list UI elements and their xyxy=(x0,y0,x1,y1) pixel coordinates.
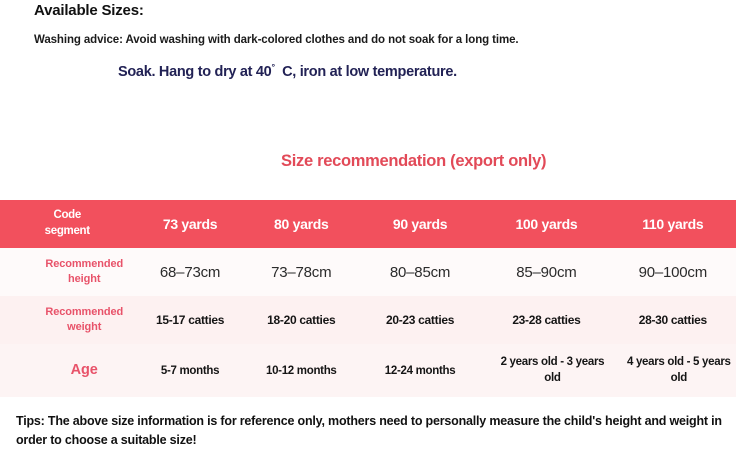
table-header-row: Code segment 73 yards 80 yards 90 yards … xyxy=(0,200,736,248)
degree-symbol: ° xyxy=(271,62,275,72)
cell-age-80: 10-12 months xyxy=(246,344,357,397)
size-chart-table: Code segment 73 yards 80 yards 90 yards … xyxy=(0,200,736,397)
row-label-line1: Recommended xyxy=(34,305,134,320)
code-segment-line2: segment xyxy=(0,224,134,240)
cell-height-73: 68–73cm xyxy=(134,248,245,296)
soak-advice-text: Soak. Hang to dry at 40°C, iron at low t… xyxy=(118,62,457,80)
soak-advice-part2: C, iron at low temperature. xyxy=(282,64,457,80)
cell-weight-80: 18-20 catties xyxy=(246,296,357,344)
cell-weight-90: 20-23 catties xyxy=(357,296,483,344)
tips-note: Tips: The above size information is for … xyxy=(16,412,732,451)
row-label-recommended-height: Recommended height xyxy=(0,248,134,296)
code-segment-line1: Code xyxy=(0,208,134,224)
column-header-90-yards: 90 yards xyxy=(357,200,483,248)
cell-weight-110: 28-30 catties xyxy=(610,296,736,344)
row-label-age: Age xyxy=(0,344,134,397)
row-label-line2: height xyxy=(34,272,134,287)
cell-height-90: 80–85cm xyxy=(357,248,483,296)
washing-advice-text: Washing advice: Avoid washing with dark-… xyxy=(34,34,518,46)
row-label-recommended-weight: Recommended weight xyxy=(0,296,134,344)
row-label-line1: Age xyxy=(34,360,134,380)
cell-height-100: 85–90cm xyxy=(483,248,609,296)
cell-age-90: 12-24 months xyxy=(357,344,483,397)
column-header-80-yards: 80 yards xyxy=(246,200,357,248)
column-header-code-segment: Code segment xyxy=(0,200,134,248)
table-row-recommended-height: Recommended height 68–73cm 73–78cm 80–85… xyxy=(0,248,736,296)
cell-weight-100: 23-28 catties xyxy=(483,296,609,344)
table-row-recommended-weight: Recommended weight 15-17 catties 18-20 c… xyxy=(0,296,736,344)
cell-age-110: 4 years old - 5 years old xyxy=(610,344,736,397)
cell-height-110: 90–100cm xyxy=(610,248,736,296)
table-row-age: Age 5-7 months 10-12 months 12-24 months… xyxy=(0,344,736,397)
cell-height-80: 73–78cm xyxy=(246,248,357,296)
column-header-73-yards: 73 yards xyxy=(134,200,245,248)
size-recommendation-title: Size recommendation (export only) xyxy=(281,152,546,171)
cell-age-100: 2 years old - 3 years old xyxy=(483,344,609,397)
cell-age-73: 5-7 months xyxy=(134,344,245,397)
row-label-line1: Recommended xyxy=(34,257,134,272)
column-header-110-yards: 110 yards xyxy=(610,200,736,248)
available-sizes-heading: Available Sizes: xyxy=(34,2,144,19)
soak-advice-part1: Soak. Hang to dry at 40 xyxy=(118,64,271,80)
column-header-100-yards: 100 yards xyxy=(483,200,609,248)
cell-weight-73: 15-17 catties xyxy=(134,296,245,344)
row-label-line2: weight xyxy=(34,320,134,335)
